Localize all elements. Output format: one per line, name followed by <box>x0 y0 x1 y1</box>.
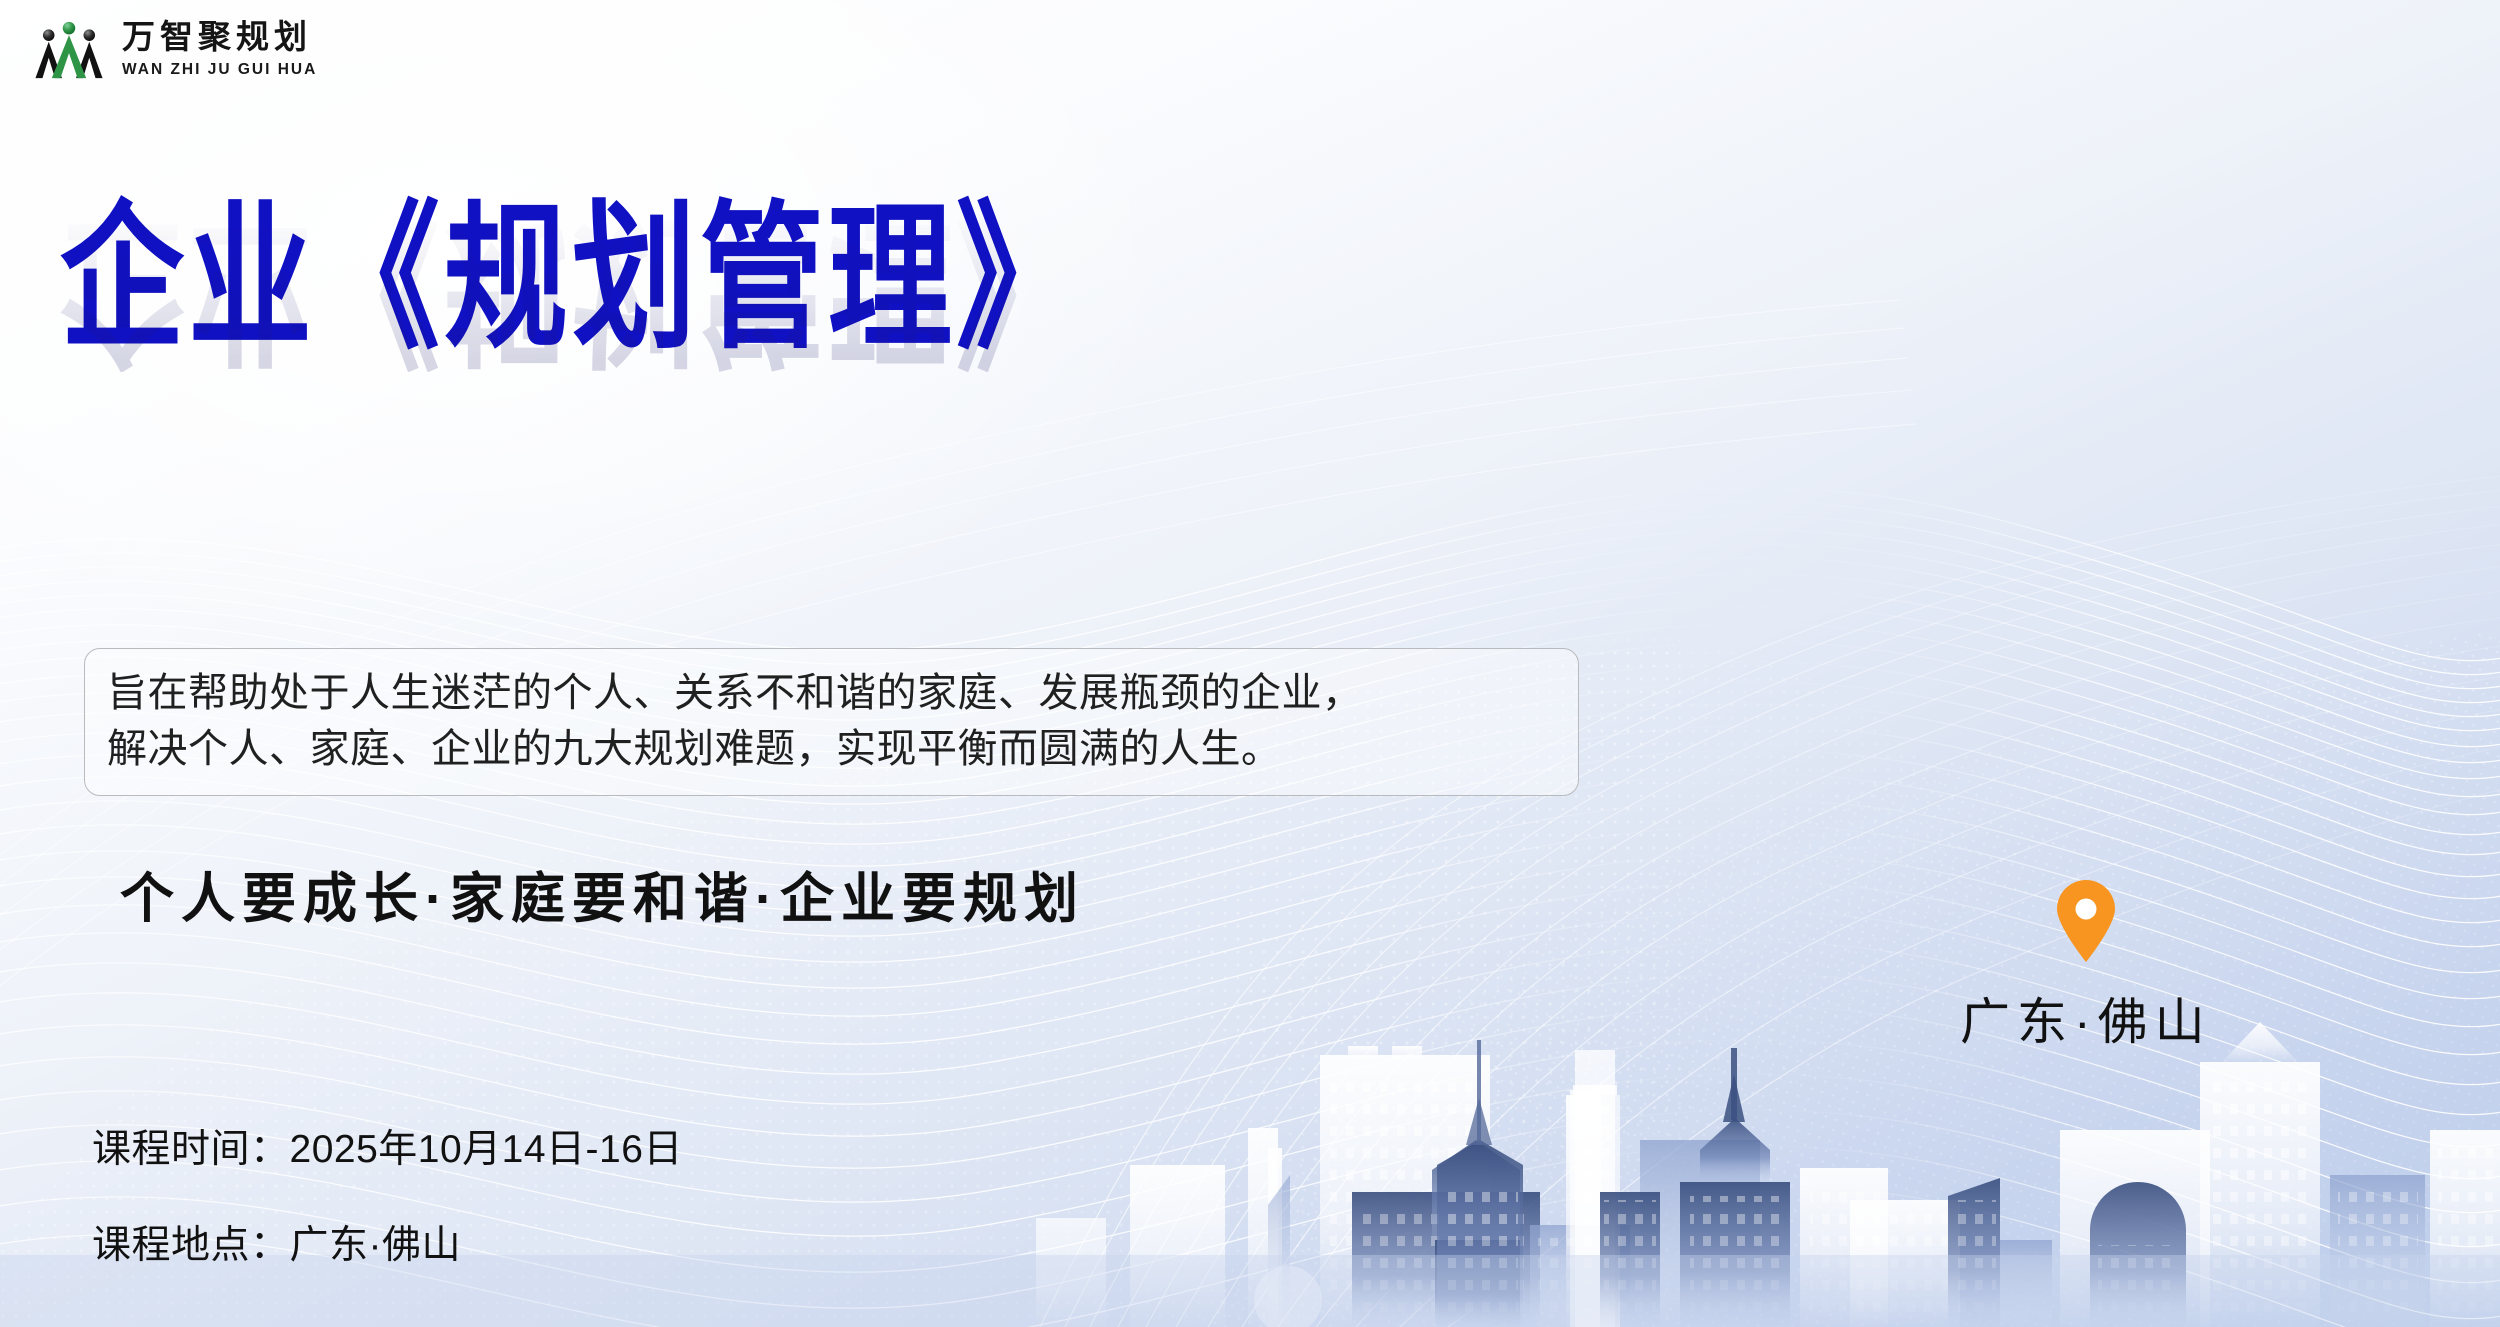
slogan-text: 个人要成长·家庭要和谐·企业要规划 <box>120 854 1085 933</box>
brand-logo: 万智聚规划 WAN ZHI JU GUI HUA <box>30 14 317 86</box>
description-box: 旨在帮助处于人生迷茫的个人、关系不和谐的家庭、发展瓶颈的企业， 解决个人、家庭、… <box>84 648 1579 796</box>
page-title-reflection: 企业《规划管理》 <box>60 204 1084 372</box>
main-title-block: 企业《规划管理》 企业《规划管理》 <box>60 196 1060 486</box>
brand-name-cn: 万智聚规划 <box>122 22 317 55</box>
course-time: 课程时间：2025年10月14日-16日 <box>92 1118 683 1174</box>
three-people-mountain-logo-icon <box>30 14 108 86</box>
map-pin-icon <box>2055 880 2117 962</box>
description-line-2: 解决个人、家庭、企业的九大规划难题，实现平衡而圆满的人生。 <box>107 721 1556 777</box>
poster-canvas: 万智聚规划 WAN ZHI JU GUI HUA 企业《规划管理》 企业《规划管… <box>0 0 2500 1327</box>
course-place: 课程地点：广东·佛山 <box>92 1214 683 1270</box>
brand-name-en: WAN ZHI JU GUI HUA <box>122 62 317 78</box>
brand-logo-text: 万智聚规划 WAN ZHI JU GUI HUA <box>122 22 317 78</box>
course-info-block: 课程时间：2025年10月14日-16日 课程地点：广东·佛山 <box>92 1118 683 1270</box>
location-badge: 广东·佛山 <box>1960 880 2212 1054</box>
description-line-1: 旨在帮助处于人生迷茫的个人、关系不和谐的家庭、发展瓶颈的企业， <box>107 665 1556 721</box>
location-label: 广东·佛山 <box>1960 982 2212 1054</box>
